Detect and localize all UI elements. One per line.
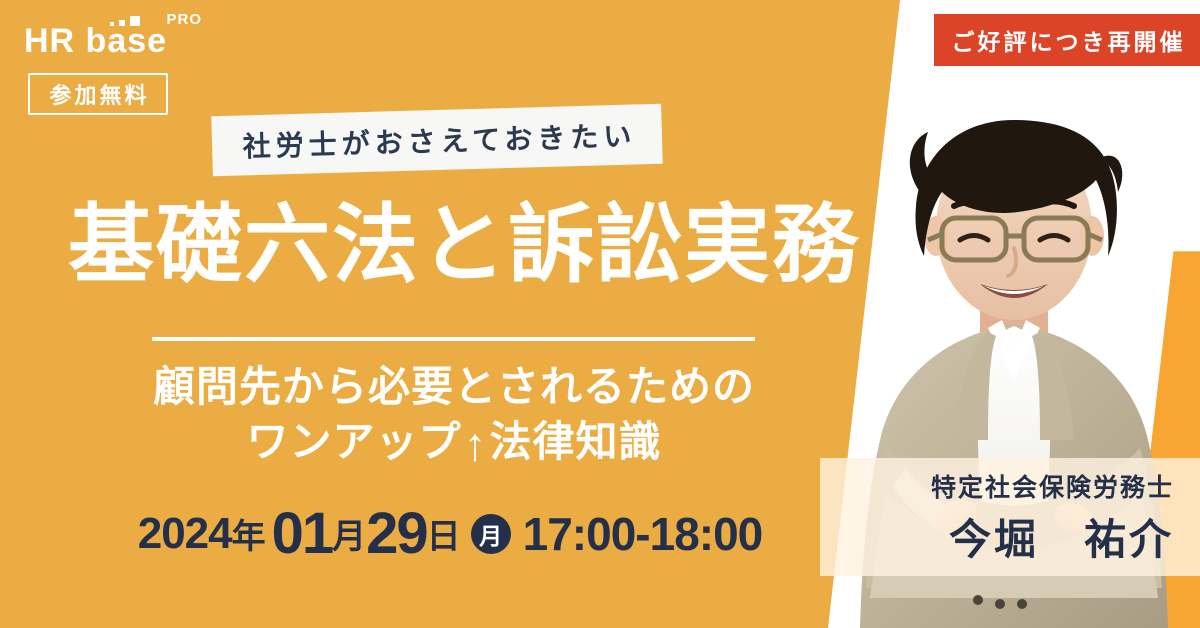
hrbase-logo[interactable]: PRO HR base (24, 12, 204, 64)
arrow-up-icon: ↑ (464, 421, 488, 467)
schedule-row: 2024 年 01 月 29 日 月 17:00-18:00 (0, 500, 900, 567)
lead-band: 社労士がおさえておきたい (211, 104, 662, 177)
speaker-qualification: 特定社会保険労務士 (931, 468, 1174, 504)
logo-wordmark: HR base (24, 22, 167, 61)
schedule-day-label: 日 (427, 509, 461, 558)
free-admission-label: 参加無料 (46, 78, 149, 110)
schedule-weekday-badge: 月 (471, 514, 511, 554)
schedule-year-label: 年 (232, 509, 266, 558)
subtitle-line-2-before: ワンアップ (246, 418, 461, 465)
title-divider (152, 337, 755, 341)
lead-text: 社労士がおさえておきたい (237, 114, 637, 165)
subtitle-line-2: ワンアップ↑法律知識 (0, 408, 908, 469)
free-admission-badge: 参加無料 (28, 73, 168, 115)
schedule-time: 17:00-18:00 (523, 507, 763, 561)
speaker-name: 今堀 祐介 (949, 506, 1174, 567)
speaker-info: 特定社会保険労務士 今堀 祐介 (820, 458, 1188, 576)
subtitle-line-1: 顧問先から必要とされるための (0, 353, 908, 414)
schedule-year: 2024 (138, 509, 232, 559)
page-title: 基礎六法と訴訟実務 (68, 200, 860, 290)
webinar-banner: PRO HR base 参加無料 ご好評につき再開催 社労士がおさえておきたい … (0, 0, 1200, 628)
rerun-badge-label: ご好評につき再開催 (949, 23, 1186, 57)
schedule-day: 29 (366, 500, 427, 567)
subtitle-line-2-after: 法律知識 (490, 418, 662, 465)
schedule-month: 01 (272, 500, 333, 567)
schedule-month-label: 月 (332, 509, 366, 558)
rerun-badge: ご好評につき再開催 (934, 14, 1200, 66)
logo-tier-label: PRO (166, 12, 202, 27)
